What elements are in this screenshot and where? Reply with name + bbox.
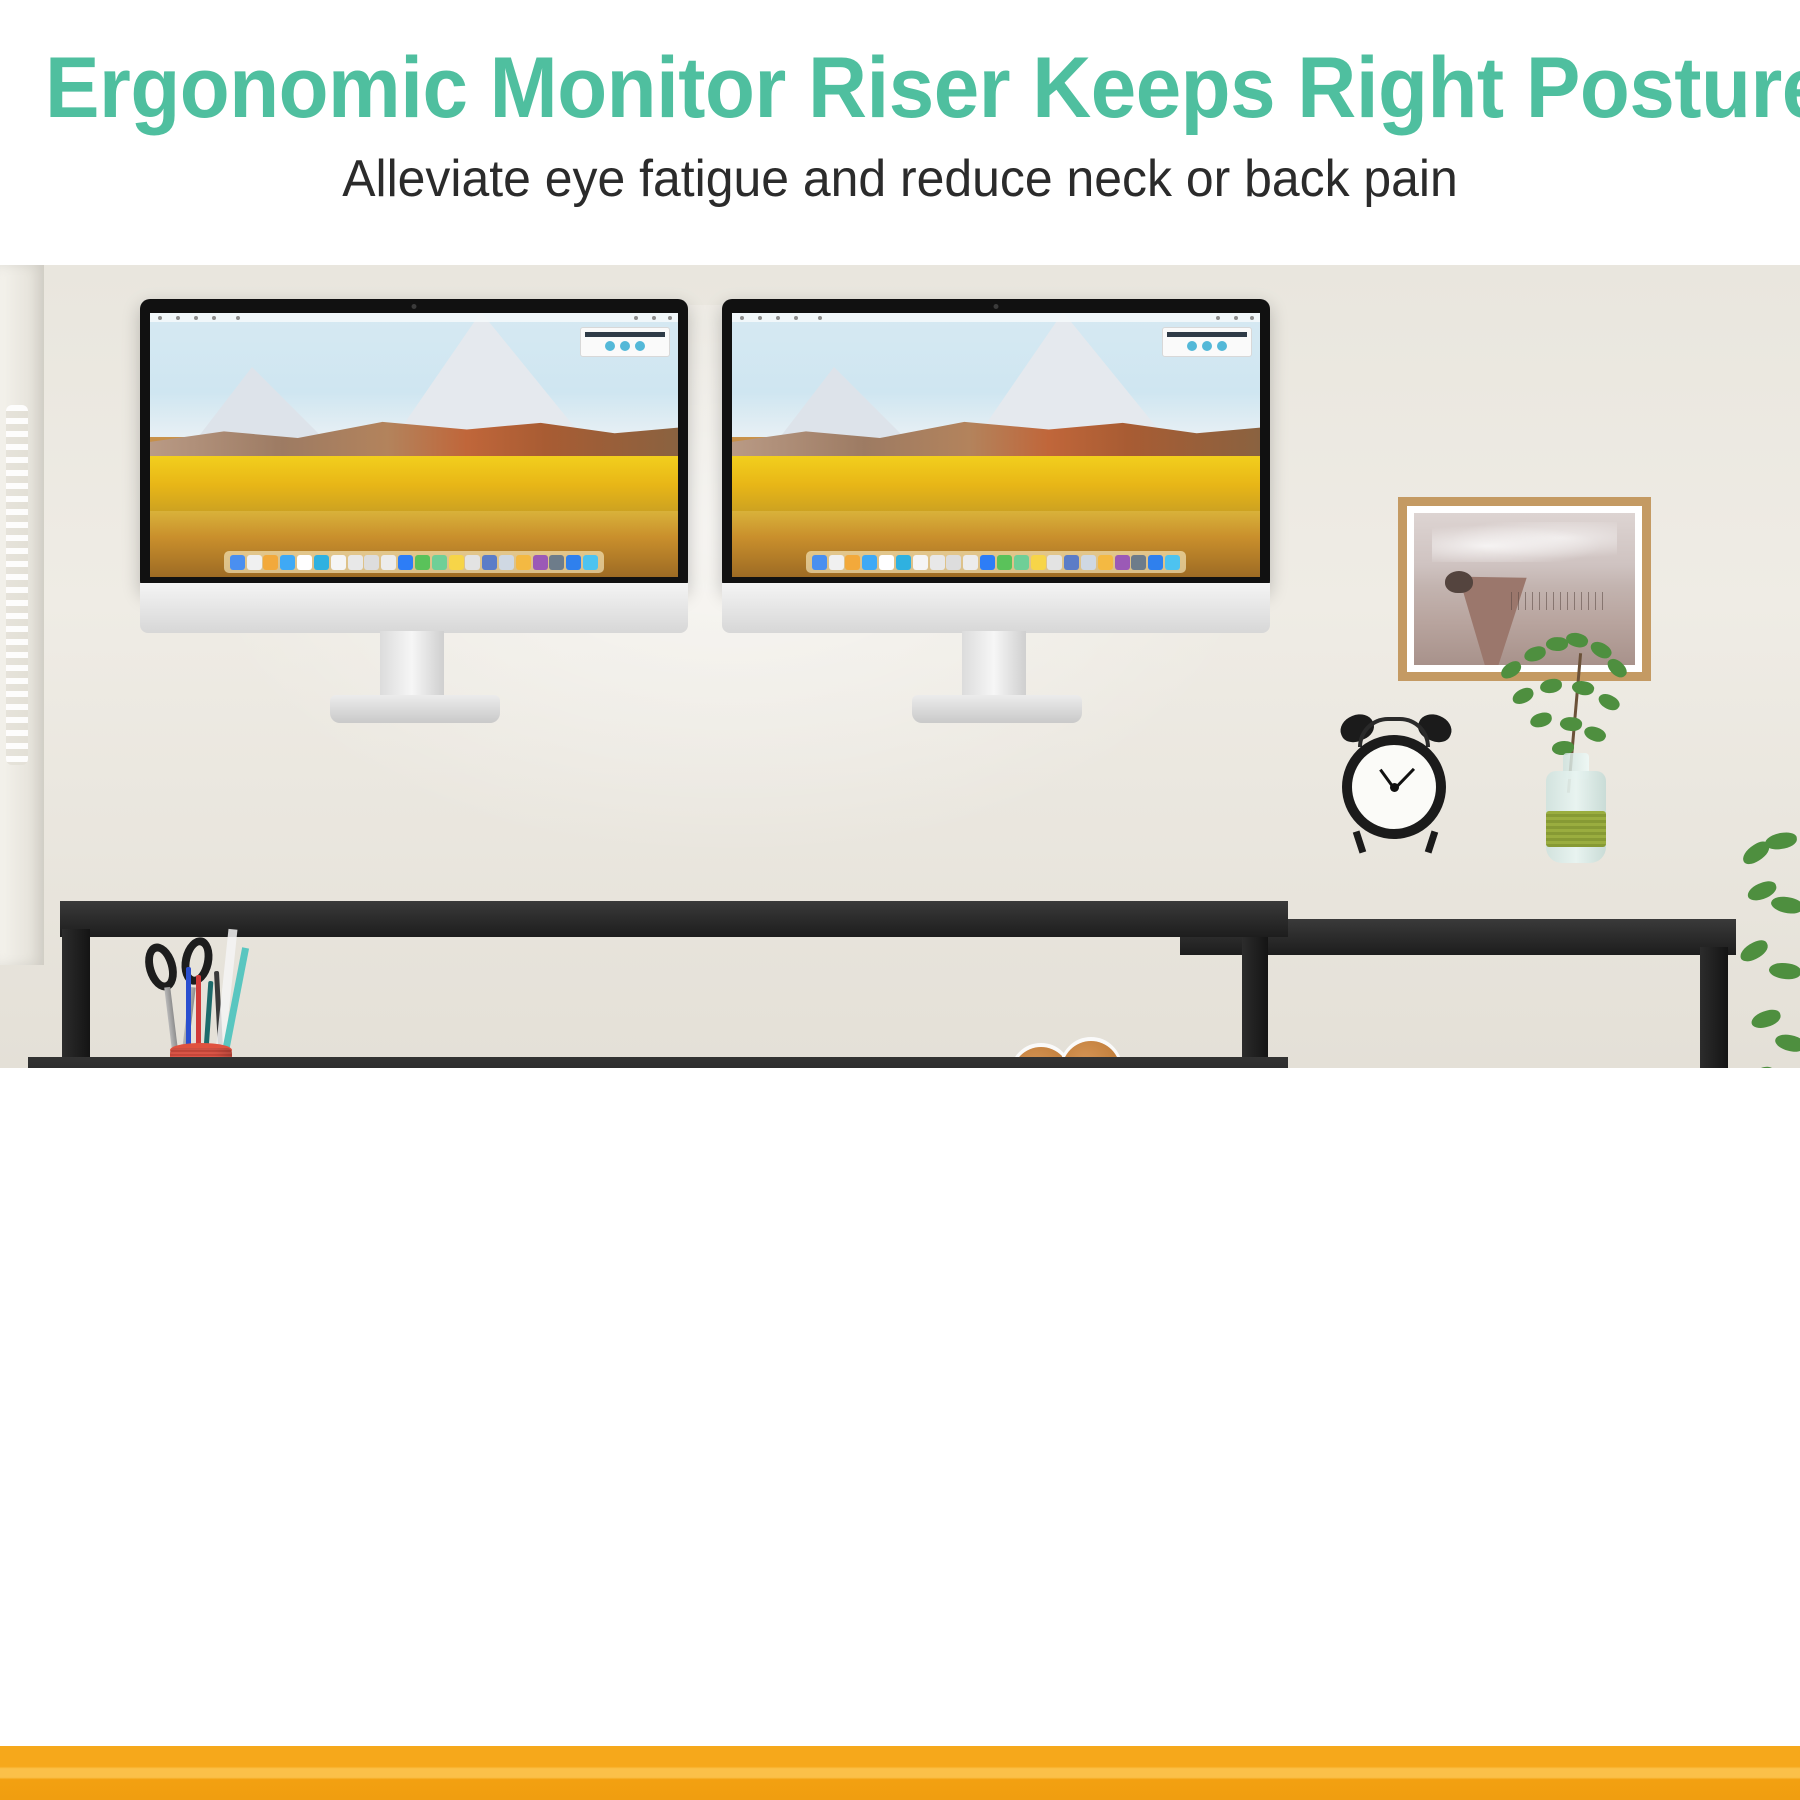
monitor-neck-right: [962, 631, 1026, 703]
macos-menubar-right[interactable]: [732, 313, 1260, 322]
riser-leg-middle: [1242, 937, 1268, 1065]
clock-center-pin: [1390, 783, 1399, 792]
art-fence: [1511, 592, 1608, 610]
header: Ergonomic Monitor Riser Keeps Right Post…: [0, 0, 1800, 265]
vase-rope-wrap: [1546, 811, 1606, 847]
music-widget-right[interactable]: [1162, 327, 1252, 357]
monitor-chin-right: [722, 583, 1270, 633]
posture-comparison: [0, 1068, 1800, 1746]
monitor-right: [722, 299, 1270, 591]
side-plant: [1735, 825, 1800, 1068]
macos-dock-left[interactable]: [224, 551, 604, 573]
monitor-screen-left: [150, 313, 678, 577]
monitor-camera-left: [412, 304, 417, 309]
art-bush: [1445, 571, 1473, 593]
floor-strip: [0, 1746, 1800, 1800]
riser-leg-left: [62, 929, 90, 1057]
monitor-screen-right: [732, 313, 1260, 577]
curtain: [0, 265, 44, 965]
riser-shelf-left: [60, 901, 1288, 937]
monitor-left: [140, 299, 688, 591]
macos-menubar-left[interactable]: [150, 313, 678, 322]
monitor-camera-right: [994, 304, 999, 309]
macos-dock-right[interactable]: [806, 551, 1186, 573]
riser-leg-right: [1700, 947, 1728, 1068]
monitor-chin-left: [140, 583, 688, 633]
product-photo: THRIFT EPSON: [0, 265, 1800, 1068]
monitor-neck-left: [380, 631, 444, 703]
product-infographic: Ergonomic Monitor Riser Keeps Right Post…: [0, 0, 1800, 1800]
desk-surface-main: [28, 1057, 1288, 1068]
monitor-foot-left: [330, 695, 500, 723]
page-title: Ergonomic Monitor Riser Keeps Right Post…: [45, 40, 1755, 136]
monitor-foot-right: [912, 695, 1082, 723]
music-widget-left[interactable]: [580, 327, 670, 357]
page-subtitle: Alleviate eye fatigue and reduce neck or…: [36, 148, 1764, 210]
art-clouds: [1432, 522, 1618, 562]
